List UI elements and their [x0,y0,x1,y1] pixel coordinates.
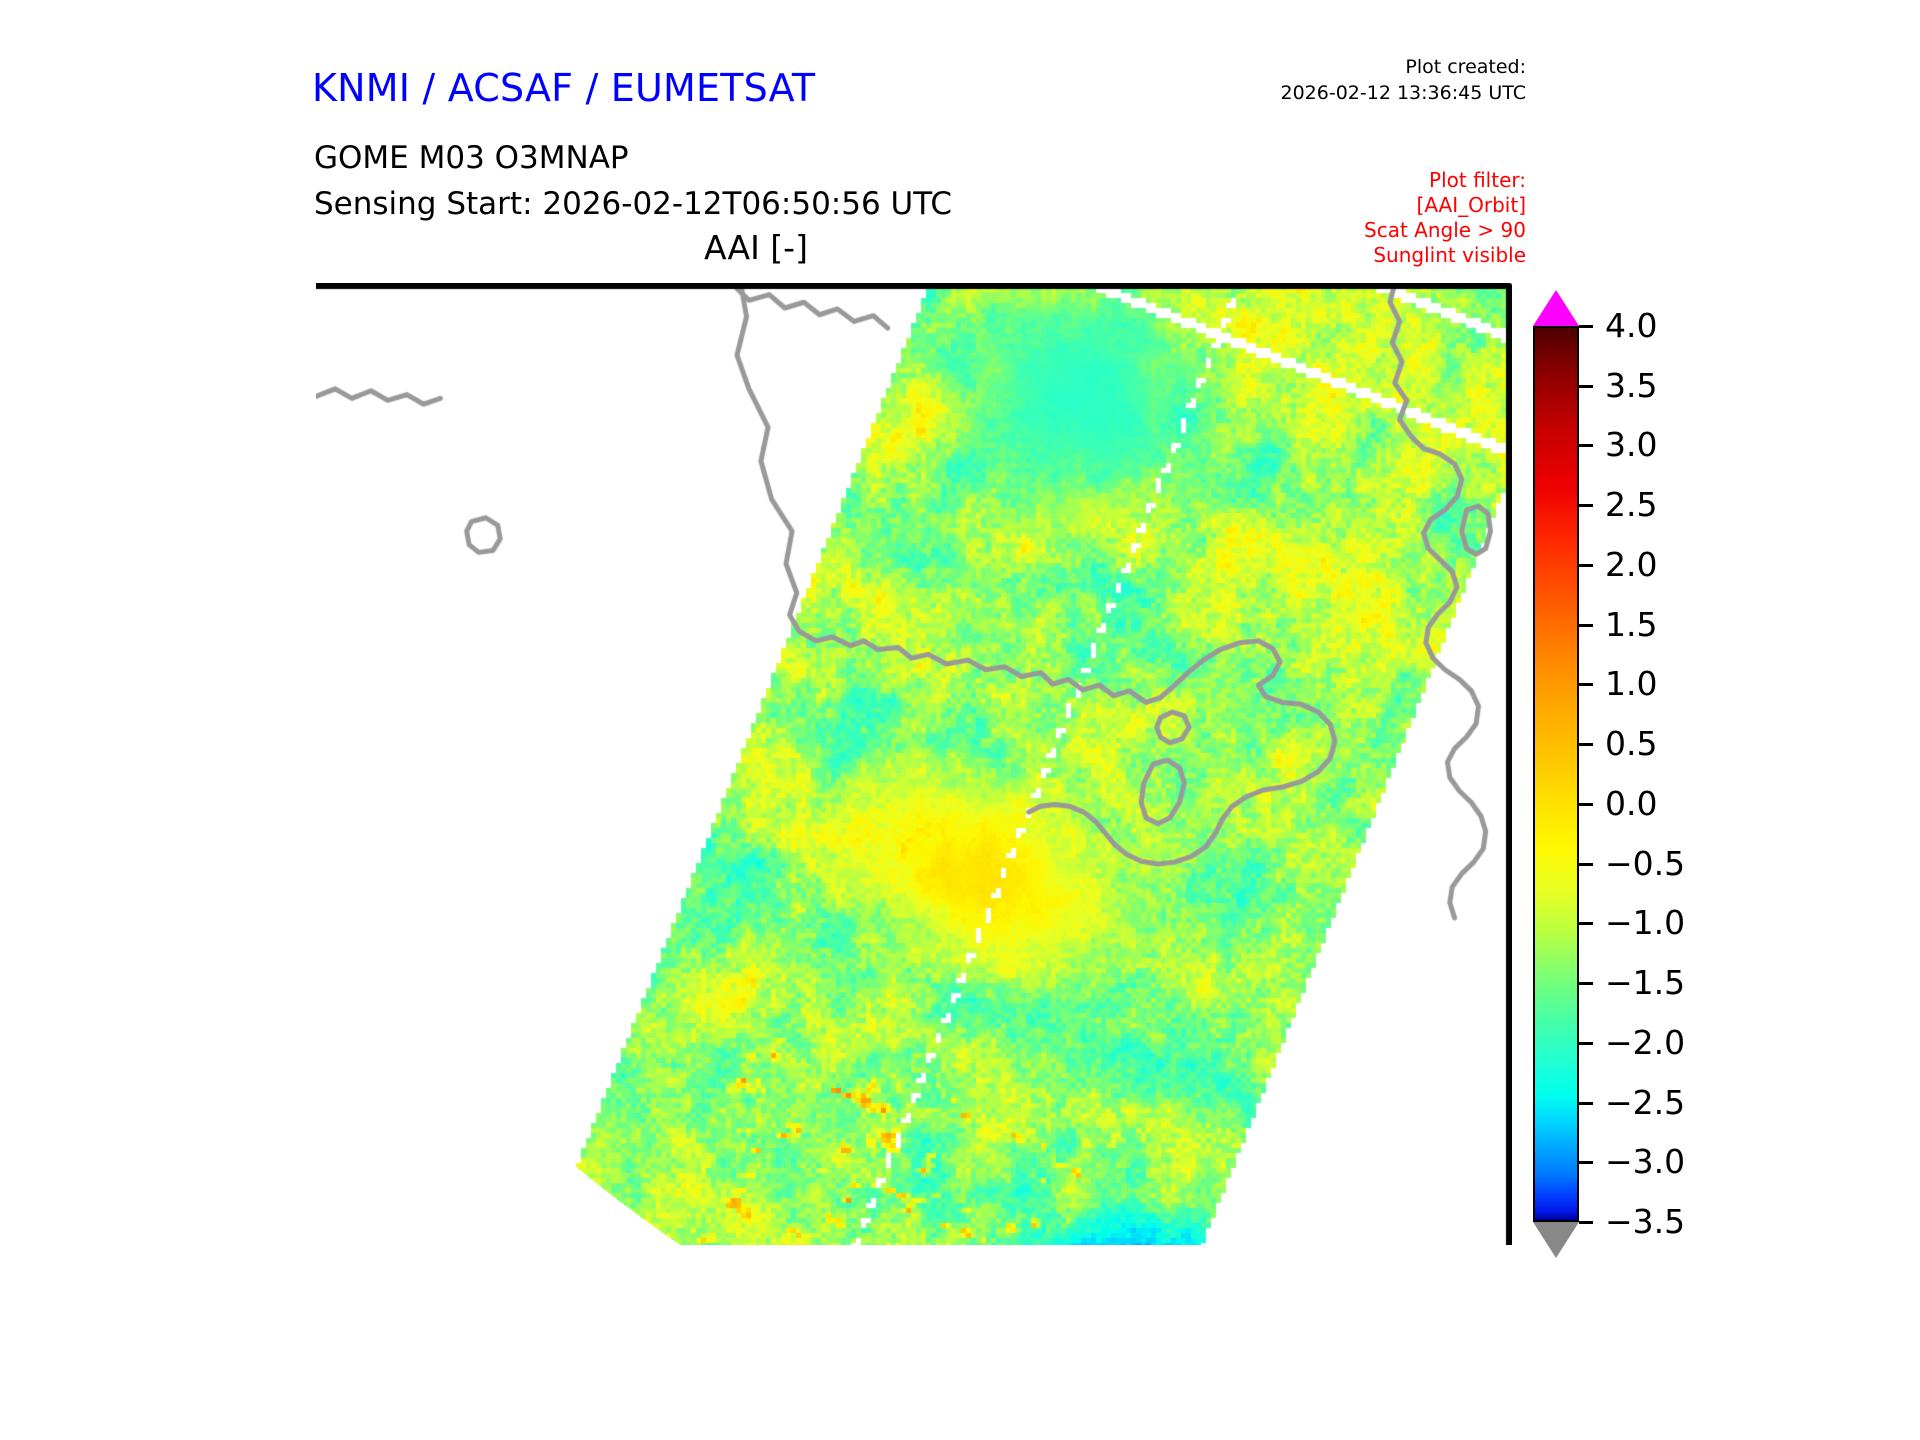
plot-filter-block: Plot filter: [AAI_Orbit] Scat Angle > 90… [1364,168,1526,268]
plot-filter-line-2: Scat Angle > 90 [1364,218,1526,243]
colorbar-tick-label-12: −2.0 [1605,1026,1685,1059]
colorbar-tick-label-13: −2.5 [1605,1086,1685,1119]
colorbar-tick-label-4: 2.0 [1605,548,1657,581]
colorbar-tick-6 [1579,683,1593,686]
map-plot-area [316,283,1512,1245]
colorbar-tick-10 [1579,922,1593,925]
plot-filter-line-3: Sunglint visible [1364,243,1526,268]
plot-filter-line-0: Plot filter: [1364,168,1526,193]
sensing-start-label: Sensing Start: 2026-02-12T06:50:56 UTC [314,186,952,222]
colorbar-tick-1 [1579,385,1593,388]
colorbar-tick-label-5: 1.5 [1605,608,1657,641]
colorbar-tick-12 [1579,1042,1593,1045]
plot-filter-line-1: [AAI_Orbit] [1364,193,1526,218]
colorbar-tick-label-7: 0.5 [1605,727,1657,760]
plot-created-block: Plot created: 2026-02-12 13:36:45 UTC [1281,54,1527,106]
colorbar-under-range-arrow [1533,1222,1579,1258]
colorbar-tick-4 [1579,564,1593,567]
colorbar-tick-15 [1579,1221,1593,1224]
page-title: AAI [-] [0,228,1512,267]
product-title: GOME M03 O3MNAP [314,140,629,176]
colorbar-tick-3 [1579,504,1593,507]
colorbar-tick-label-2: 3.0 [1605,428,1657,461]
colorbar: 4.03.53.02.52.01.51.00.50.0−0.5−1.0−1.5−… [1533,290,1833,1296]
colorbar-tick-label-6: 1.0 [1605,667,1657,700]
colorbar-tick-9 [1579,863,1593,866]
colorbar-tick-7 [1579,743,1593,746]
plot-created-label: Plot created: [1281,54,1527,80]
colorbar-tick-0 [1579,325,1593,328]
colorbar-tick-14 [1579,1161,1593,1164]
plot-created-value: 2026-02-12 13:36:45 UTC [1281,80,1527,106]
organisation-title: KNMI / ACSAF / EUMETSAT [312,66,815,110]
swath-heatmap-canvas [316,283,1512,1245]
colorbar-tick-8 [1579,803,1593,806]
colorbar-over-range-arrow [1533,290,1579,326]
colorbar-tick-label-11: −1.5 [1605,966,1685,999]
colorbar-tick-label-15: −3.5 [1605,1205,1685,1238]
colorbar-tick-11 [1579,982,1593,985]
colorbar-gradient [1533,326,1579,1222]
colorbar-tick-13 [1579,1102,1593,1105]
colorbar-tick-label-14: −3.0 [1605,1145,1685,1178]
colorbar-tick-label-9: −0.5 [1605,847,1685,880]
colorbar-tick-5 [1579,624,1593,627]
colorbar-tick-label-1: 3.5 [1605,369,1657,402]
colorbar-tick-label-10: −1.0 [1605,906,1685,939]
colorbar-tick-label-0: 4.0 [1605,309,1657,342]
colorbar-tick-label-3: 2.5 [1605,488,1657,521]
colorbar-tick-label-8: 0.0 [1605,787,1657,820]
colorbar-tick-2 [1579,444,1593,447]
